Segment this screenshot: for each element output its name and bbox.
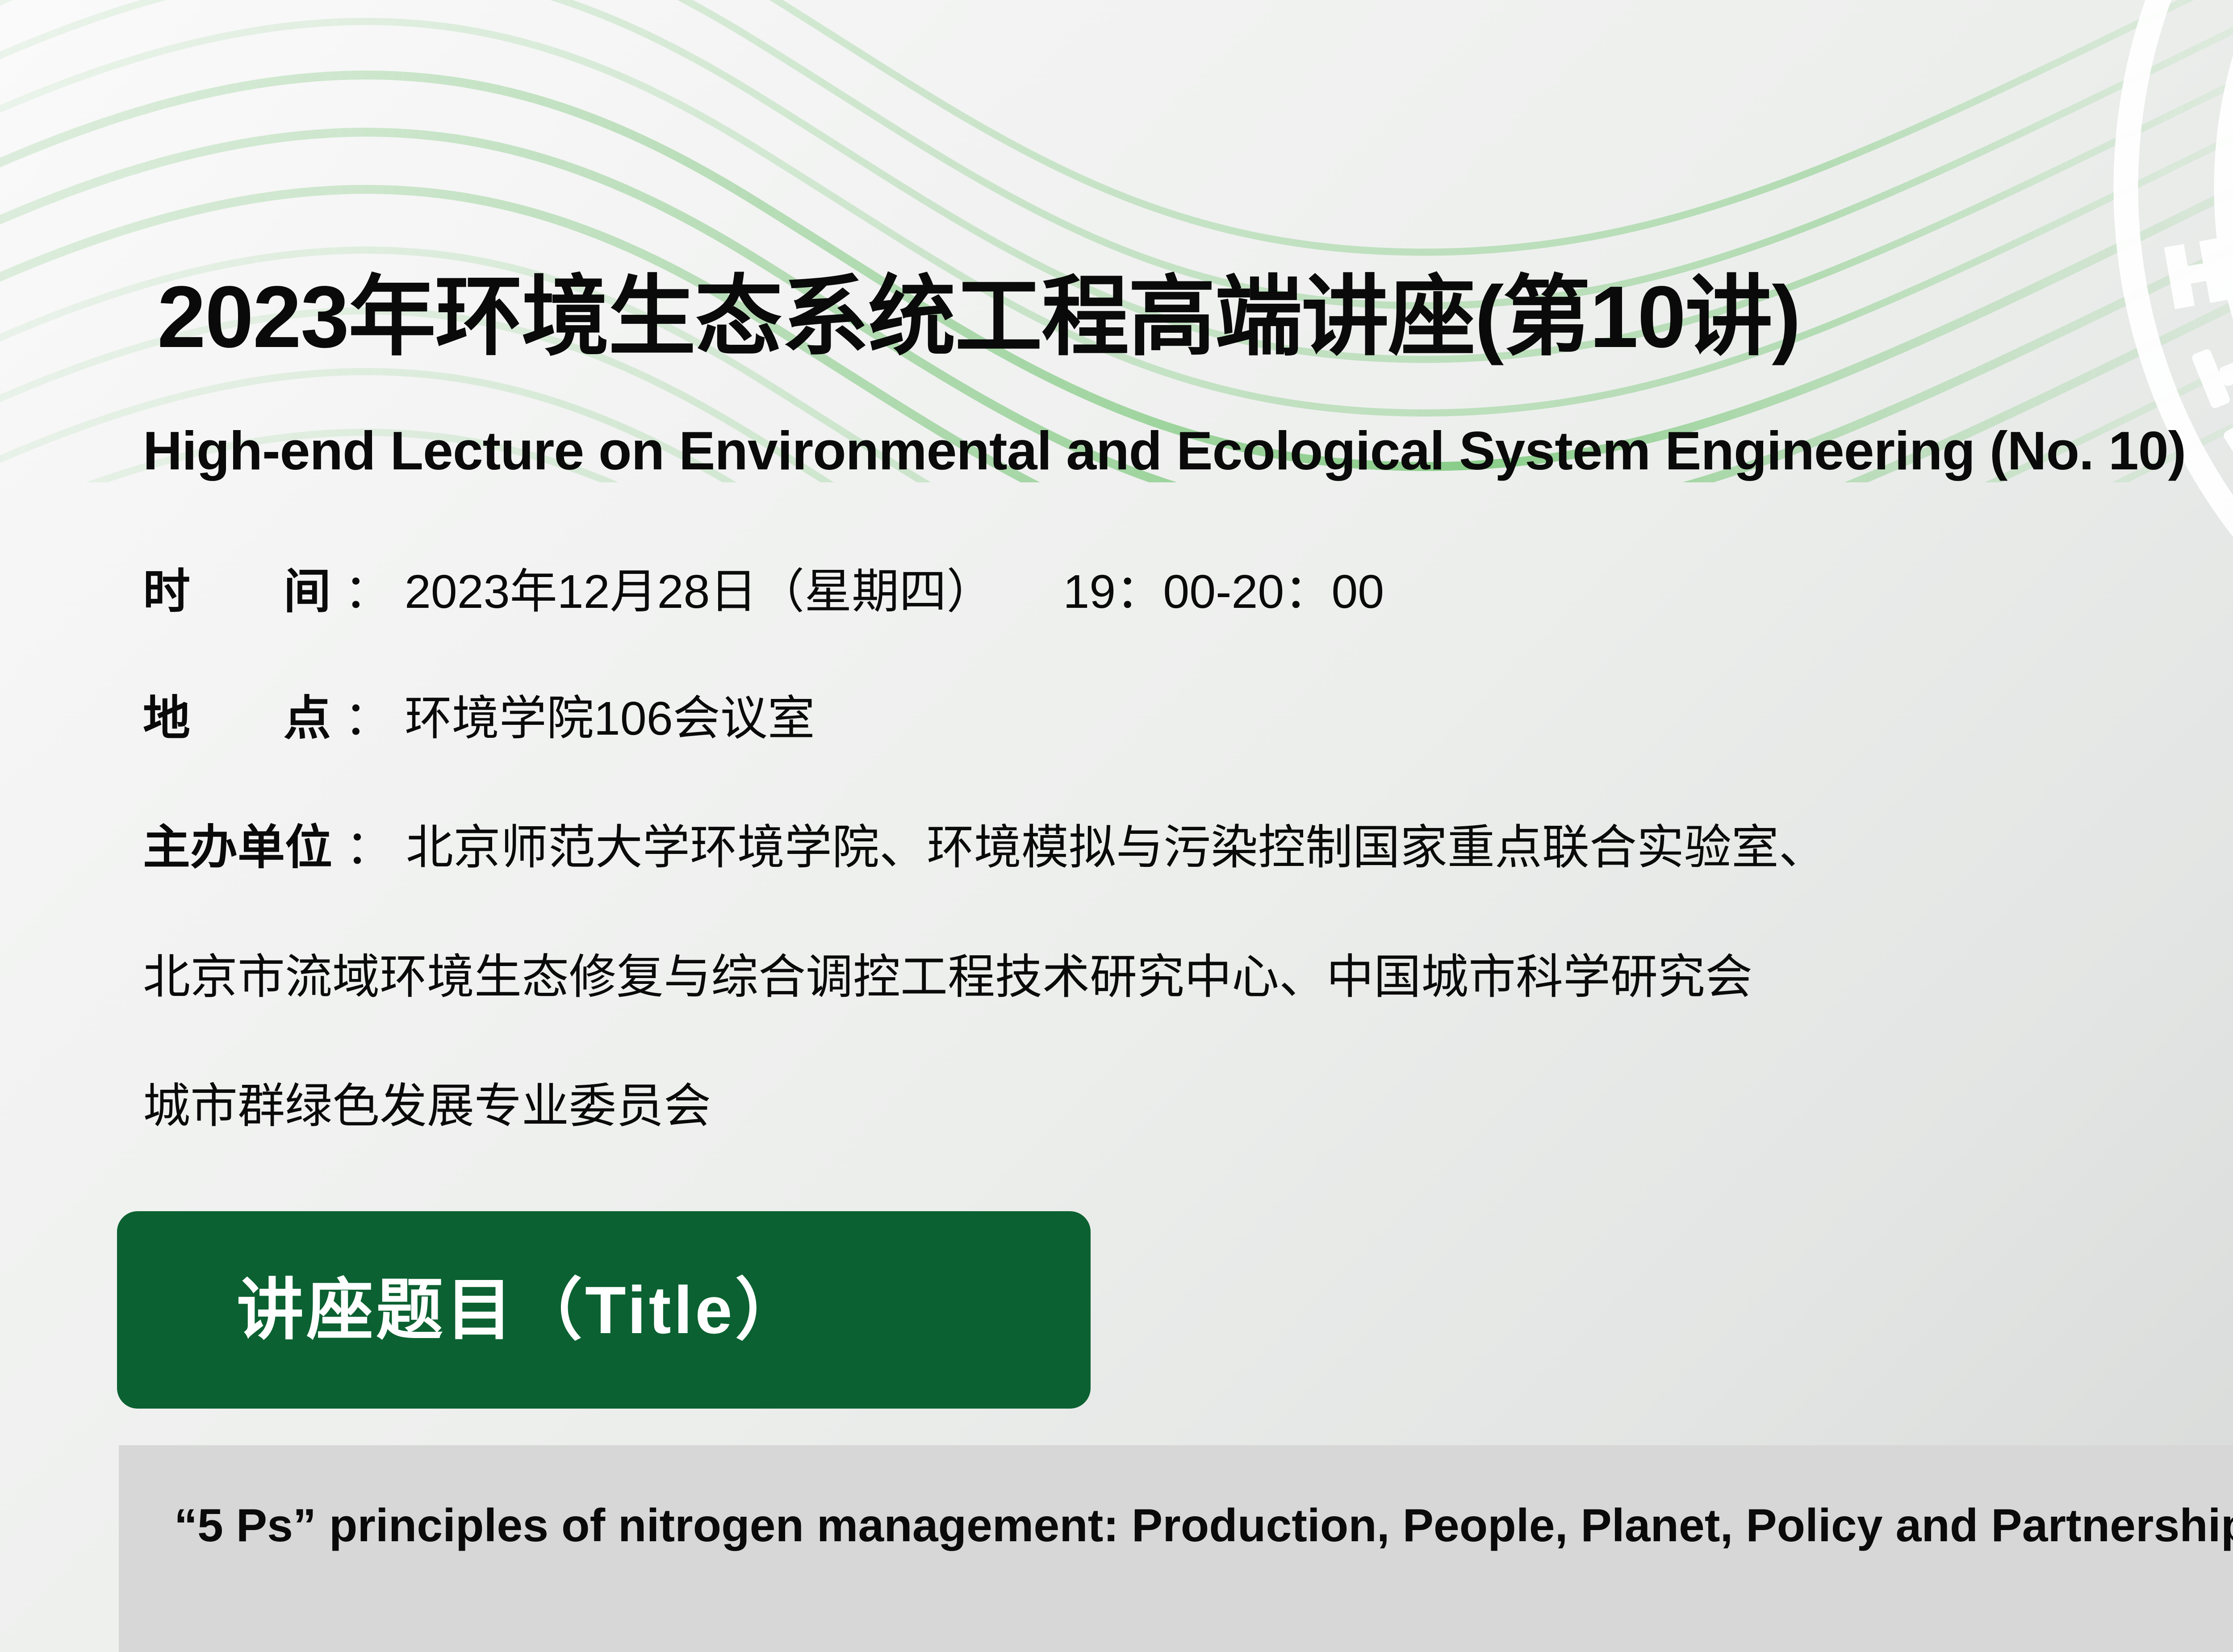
- page-title-english: High-end Lecture on Environmental and Ec…: [143, 423, 2186, 478]
- page-title-chinese: 2023年环境生态系统工程高端讲座(第10讲): [157, 273, 1800, 361]
- organizer-line-1: 北京师范大学环境学院、环境模拟与污染控制国家重点联合实验室、: [406, 821, 1826, 874]
- lecture-title-pill-label: 讲座题目（Title）: [237, 1276, 805, 1343]
- time-label: 时: [143, 565, 190, 618]
- info-row-place: 地 点 ： 环境学院106会议室: [143, 695, 815, 742]
- lecture-title-text: “5 Ps” principles of nitrogen management…: [174, 1502, 2233, 1549]
- time-colon: ：: [344, 565, 391, 618]
- lecture-title-banner: “5 Ps” principles of nitrogen management…: [119, 1445, 2233, 1652]
- time-range: 19：00-20：00: [1063, 565, 1384, 618]
- time-label-2: 间: [284, 565, 331, 618]
- organizer-label: 主办单位: [143, 821, 332, 874]
- organizer-colon: ：: [345, 821, 393, 874]
- lecture-poster: 1902: [0, 0, 2233, 1652]
- info-row-organizer-cont-1: 北京市流域环境生态修复与综合调控工程技术研究中心、中国城市科学研究会: [143, 954, 1752, 1001]
- place-colon: ：: [344, 692, 391, 745]
- info-row-organizer: 主办单位 ： 北京师范大学环境学院、环境模拟与污染控制国家重点联合实验室、: [143, 824, 1826, 871]
- place-value: 环境学院106会议室: [405, 692, 815, 745]
- organizer-line-2: 北京市流域环境生态修复与综合调控工程技术研究中心、中国城市科学研究会: [143, 951, 1752, 1004]
- organizer-line-3: 城市群绿色发展专业委员会: [143, 1080, 711, 1133]
- info-row-organizer-cont-2: 城市群绿色发展专业委员会: [143, 1083, 711, 1130]
- poster-content: 2023年环境生态系统工程高端讲座(第10讲) High-end Lecture…: [0, 0, 2233, 1652]
- info-row-time: 时 间 ： 2023年12月28日（星期四） 19：00-20：00: [143, 568, 1384, 615]
- place-label-2: 点: [284, 692, 331, 745]
- time-value: 2023年12月28日（星期四）: [405, 565, 994, 618]
- place-label: 地: [143, 692, 190, 745]
- lecture-title-pill: 讲座题目（Title）: [117, 1211, 1091, 1409]
